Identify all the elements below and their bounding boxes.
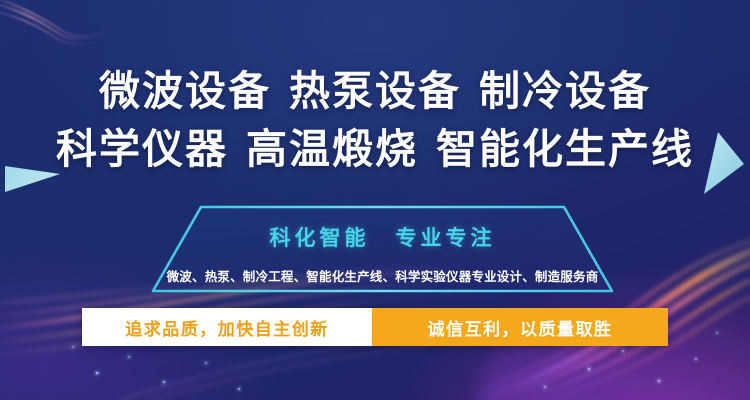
headline-line-2: 科学仪器高温煅烧智能化生产线 — [0, 120, 750, 178]
headline-item-heatpump: 热泵设备 — [289, 67, 461, 115]
description-text: 微波、热泵、制冷工程、智能化生产线、科学实验仪器专业设计、制造服务商 — [135, 266, 630, 285]
subtitle-right: 专业专注 — [396, 226, 496, 250]
headline-item-instruments: 科学仪器 — [56, 125, 228, 173]
headline-item-microwave: 微波设备 — [99, 67, 271, 115]
subtitle-left: 科化智能 — [270, 226, 370, 250]
headline-item-calcination: 高温煅烧 — [246, 125, 418, 173]
slogan-bar-group: 追求品质，加快自主创新 诚信互利，以质量取胜 — [82, 308, 668, 346]
headline-line-1: 微波设备热泵设备制冷设备 — [0, 62, 750, 120]
headline-block: 微波设备热泵设备制冷设备 科学仪器高温煅烧智能化生产线 — [0, 62, 750, 178]
headline-item-refrigeration: 制冷设备 — [479, 67, 651, 115]
slogan-bar-right: 诚信互利，以质量取胜 — [372, 308, 668, 346]
subtitle-row: 科化智能专业专注 — [135, 222, 630, 252]
headline-item-smartline: 智能化生产线 — [436, 125, 694, 173]
slogan-bar-left: 追求品质，加快自主创新 — [82, 308, 372, 346]
promotional-banner: 微波设备热泵设备制冷设备 科学仪器高温煅烧智能化生产线 科化智能专 — [0, 0, 750, 400]
